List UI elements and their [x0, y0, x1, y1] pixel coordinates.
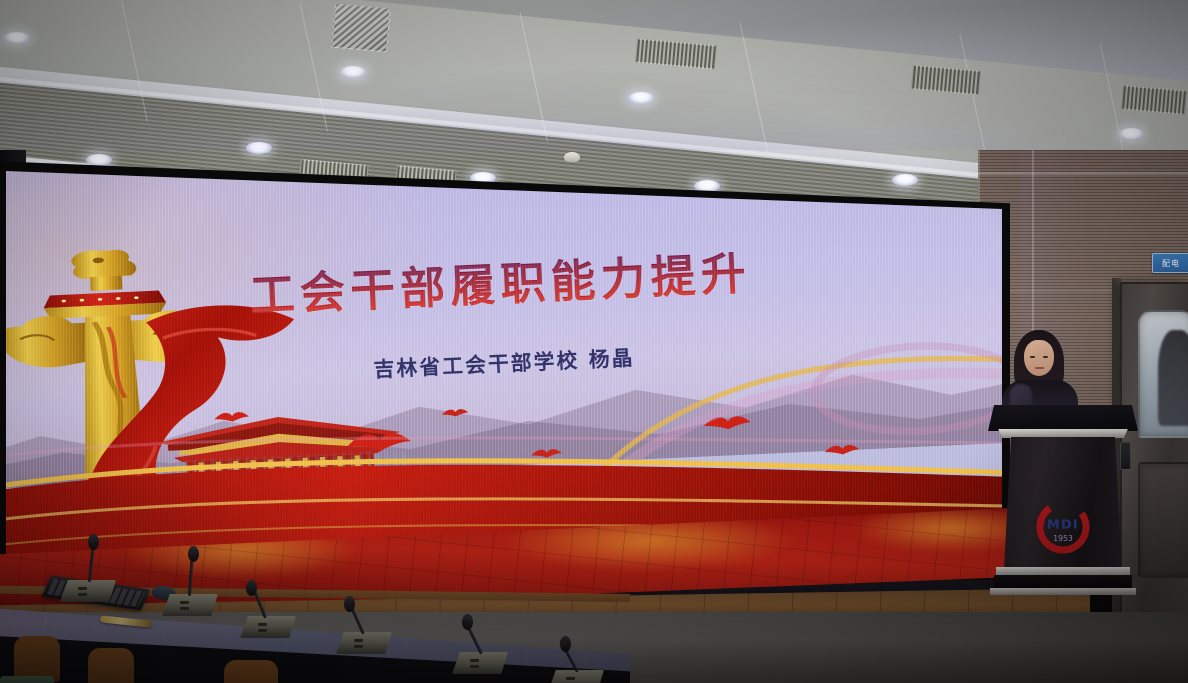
table-microphone[interactable]: [548, 642, 608, 683]
microphone-button[interactable]: [566, 677, 575, 680]
ceiling-downlight: [4, 32, 30, 44]
microphone-base[interactable]: [240, 616, 296, 638]
podium-lip: [994, 429, 1132, 438]
speaker-eye: [1030, 356, 1035, 358]
microphone-base[interactable]: [162, 594, 218, 616]
speaker-eye: [1043, 356, 1048, 358]
microphone-button[interactable]: [470, 665, 479, 668]
microphone-capsule: [462, 614, 473, 630]
podium-base: [994, 575, 1132, 589]
podium-emblem: MDI 1953: [1031, 495, 1095, 559]
table-microphone[interactable]: [60, 552, 120, 602]
slide-content: 中华人民共和国万岁: [6, 161, 1002, 561]
microphone-capsule: [188, 546, 199, 562]
ceiling-downlight: [340, 66, 366, 78]
door-window-panel: [1138, 310, 1188, 438]
microphone-button[interactable]: [470, 659, 479, 662]
microphone-button[interactable]: [180, 601, 189, 604]
door-lower-panel: [1138, 462, 1188, 578]
podium-emblem-year: 1953: [1053, 534, 1073, 543]
microphone-button[interactable]: [78, 587, 87, 590]
conference-hall-photo: 配电: [0, 0, 1188, 683]
door-window-silhouette: [1158, 330, 1188, 426]
microphone-button[interactable]: [78, 593, 87, 596]
speaker-face: [1024, 340, 1054, 376]
microphone-button[interactable]: [258, 623, 267, 626]
chair-backrest: [224, 660, 278, 683]
ac-diffuser-icon: [331, 4, 391, 53]
microphone-button[interactable]: [354, 639, 363, 642]
table-microphone[interactable]: [452, 624, 512, 674]
screen-surface: 中华人民共和国万岁: [6, 161, 1002, 561]
microphone-capsule: [560, 636, 571, 652]
microphone-base[interactable]: [336, 632, 392, 654]
microphone-base[interactable]: [60, 580, 116, 602]
chair-backrest: [88, 648, 134, 683]
ceiling-downlight: [1118, 128, 1144, 140]
table-microphone[interactable]: [240, 588, 300, 638]
microphone-capsule: [88, 534, 99, 550]
microphone-capsule: [246, 580, 257, 596]
ceiling-downlight: [628, 92, 654, 104]
microphone-button[interactable]: [354, 645, 363, 648]
podium-body: MDI 1953: [1004, 437, 1122, 569]
microphone-capsule: [344, 596, 355, 612]
podium: MDI 1953: [988, 405, 1138, 595]
podium-top: [988, 405, 1138, 431]
speaker-mouth: [1035, 367, 1044, 369]
microphone-button[interactable]: [180, 607, 189, 610]
ceiling-downlight: [246, 142, 272, 154]
microphone-button[interactable]: [258, 629, 267, 632]
led-video-wall: 中华人民共和国万岁: [0, 155, 1010, 575]
microphone-base[interactable]: [452, 652, 508, 674]
podium-base-trim-top: [996, 567, 1130, 575]
podium-base-trim-bottom: [990, 588, 1136, 595]
table-microphone[interactable]: [336, 604, 396, 654]
table-microphone[interactable]: [162, 566, 222, 616]
wall-sign-power-room: 配电: [1152, 253, 1188, 273]
chair-seat: [0, 676, 54, 683]
podium-emblem-text: MDI: [1047, 517, 1079, 532]
